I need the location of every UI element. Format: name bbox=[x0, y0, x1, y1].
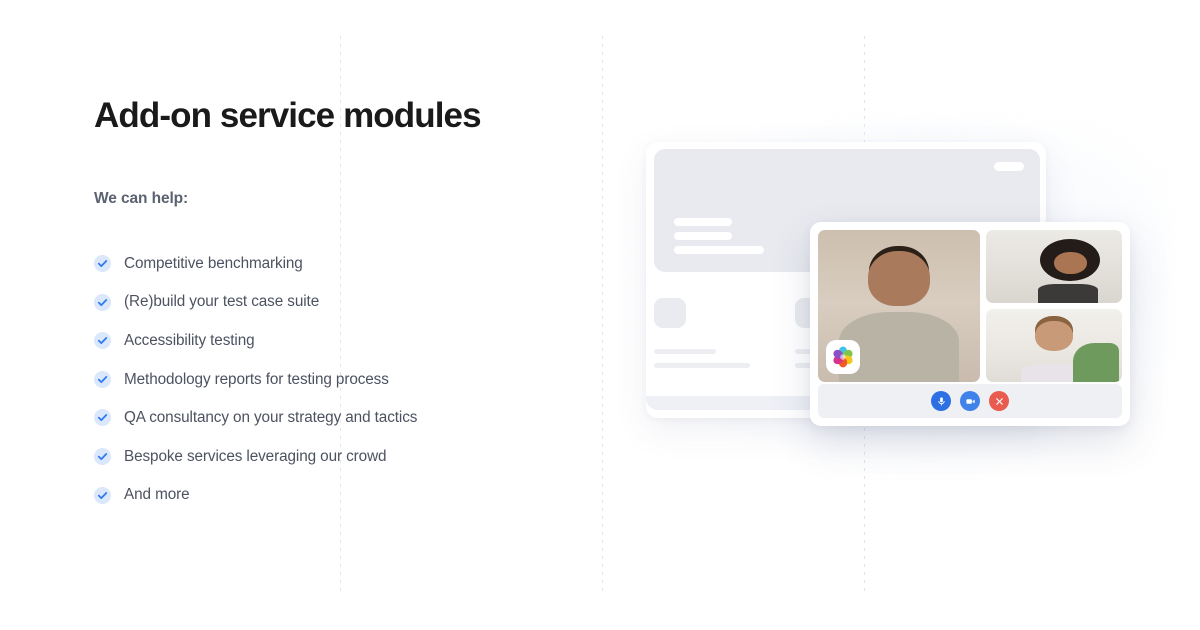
list-item-label: And more bbox=[124, 487, 190, 502]
page-title: Add-on service modules bbox=[94, 96, 574, 136]
participant-top-right-tile[interactable] bbox=[986, 230, 1122, 303]
hero-text-line bbox=[674, 232, 732, 240]
list-item: And more bbox=[94, 476, 574, 515]
section-subheading: We can help: bbox=[94, 190, 574, 208]
list-item: (Re)build your test case suite bbox=[94, 283, 574, 322]
guide-line-2 bbox=[602, 36, 603, 592]
list-item: Bespoke services leveraging our crowd bbox=[94, 437, 574, 476]
participant-video-feed bbox=[986, 309, 1122, 382]
participant-body bbox=[1038, 284, 1098, 303]
check-circle-icon bbox=[94, 371, 111, 388]
list-item: Accessibility testing bbox=[94, 321, 574, 360]
participant-body bbox=[1021, 364, 1086, 382]
list-item: QA consultancy on your strategy and tact… bbox=[94, 399, 574, 438]
video-call-card bbox=[810, 222, 1130, 426]
list-item-label: QA consultancy on your strategy and tact… bbox=[124, 410, 417, 425]
list-item: Competitive benchmarking bbox=[94, 244, 574, 283]
list-item-label: Methodology reports for testing process bbox=[124, 372, 389, 387]
check-circle-icon bbox=[94, 255, 111, 272]
participant-side-column bbox=[986, 230, 1122, 382]
list-item-label: Accessibility testing bbox=[124, 333, 255, 348]
check-circle-icon bbox=[94, 332, 111, 349]
hero-text-line bbox=[674, 246, 764, 254]
participant-main-tile[interactable] bbox=[818, 230, 980, 382]
participant-grid bbox=[818, 230, 1122, 382]
video-call-illustration bbox=[610, 110, 1170, 490]
check-circle-icon bbox=[94, 487, 111, 504]
content-block bbox=[654, 298, 750, 368]
participant-body bbox=[871, 330, 926, 382]
content-column: Add-on service modules We can help: Comp… bbox=[94, 96, 574, 514]
participant-video-feed bbox=[986, 230, 1122, 303]
participant-bottom-right-tile[interactable] bbox=[986, 309, 1122, 382]
page-root: Add-on service modules We can help: Comp… bbox=[0, 0, 1200, 630]
avatar-placeholder bbox=[654, 298, 686, 328]
call-control-bar bbox=[818, 384, 1122, 418]
video-camera-icon[interactable] bbox=[960, 391, 980, 411]
feature-list: Competitive benchmarking (Re)build your … bbox=[94, 244, 574, 514]
list-item-label: Bespoke services leveraging our crowd bbox=[124, 449, 386, 464]
text-line-placeholder bbox=[654, 349, 716, 354]
app-logo-icon bbox=[826, 340, 860, 374]
list-item-label: Competitive benchmarking bbox=[124, 256, 303, 271]
end-call-icon[interactable] bbox=[989, 391, 1009, 411]
microphone-icon[interactable] bbox=[931, 391, 951, 411]
check-circle-icon bbox=[94, 409, 111, 426]
check-circle-icon bbox=[94, 294, 111, 311]
hero-pill-placeholder bbox=[994, 162, 1024, 171]
list-item-label: (Re)build your test case suite bbox=[124, 294, 319, 309]
check-circle-icon bbox=[94, 448, 111, 465]
hero-text-line bbox=[674, 218, 732, 226]
text-line-placeholder bbox=[654, 363, 750, 368]
list-item: Methodology reports for testing process bbox=[94, 360, 574, 399]
